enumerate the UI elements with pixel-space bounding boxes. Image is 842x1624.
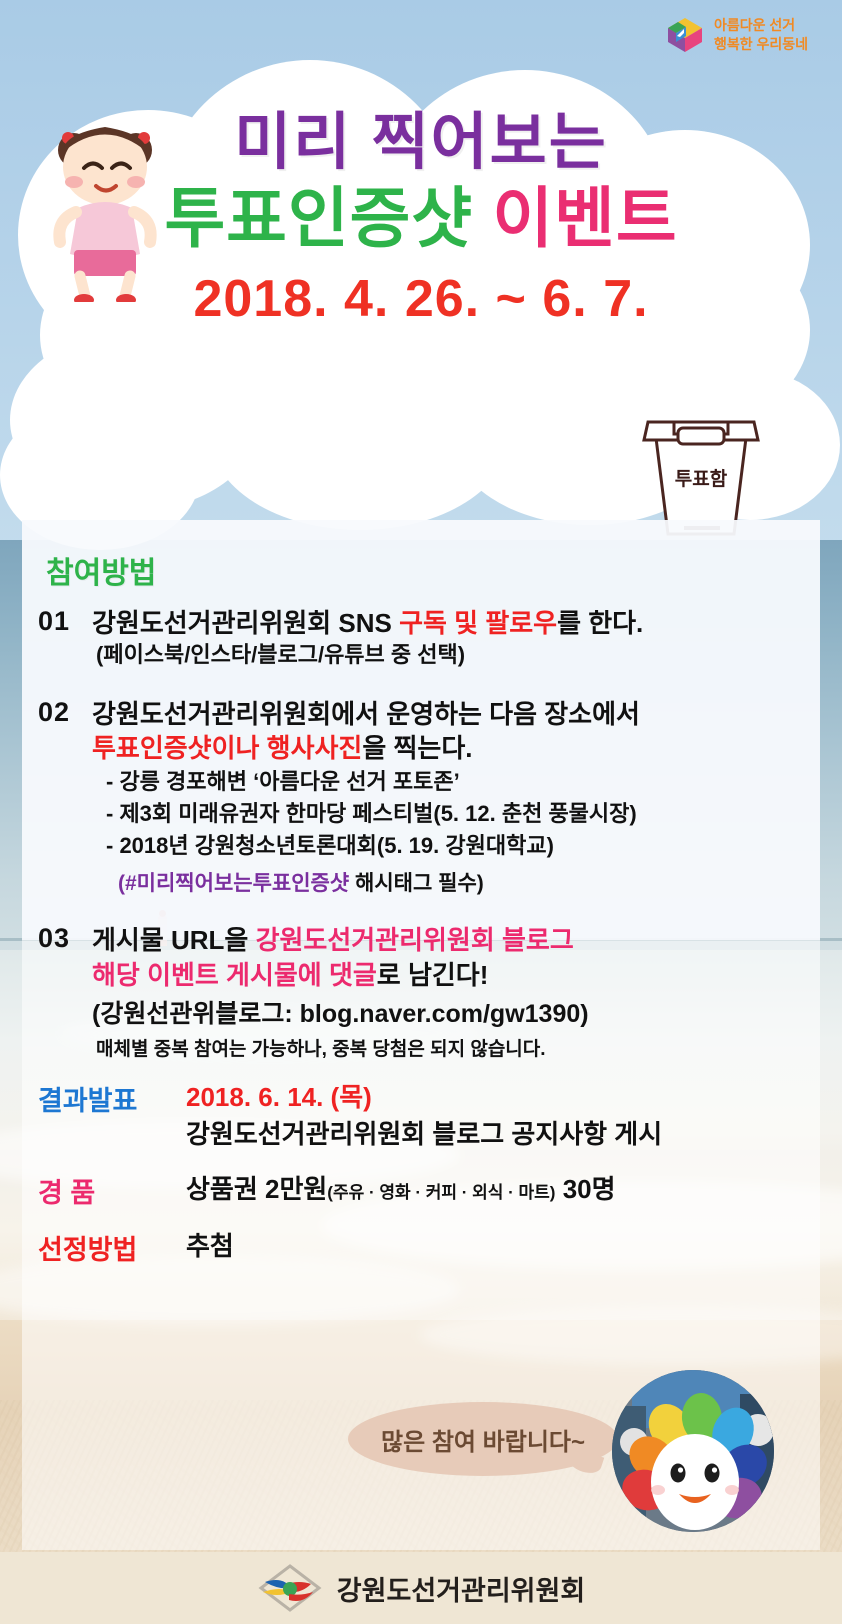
hashtag-text: (#미리찍어보는투표인증샷 <box>118 872 349 895</box>
title-green-text: 투표인증샷 <box>164 181 473 255</box>
step-02-number: 02 <box>38 697 92 728</box>
step-02-hashtag-note: (#미리찍어보는투표인증샷 해시태그 필수) <box>118 867 828 897</box>
title-line-2: 투표인증샷 이벤트 <box>0 181 842 257</box>
step-01-sub: (페이스북/인스타/블로그/유튜브 중 선택) <box>96 640 828 671</box>
prize-count: 30명 <box>563 1174 616 1204</box>
step-02-bullet: - 강릉 경포해변 ‘아름다운 선거 포토존’ <box>106 766 828 798</box>
step-02-text: 을 찍는다. <box>362 733 472 763</box>
blog-url-line[interactable]: (강원선관위블로그: blog.naver.com/gw1390) <box>92 994 828 1030</box>
nec-bird-logo-icon <box>257 1562 323 1614</box>
step-02-line-1: 강원도선거관리위원회에서 운영하는 다음 장소에서 <box>92 697 828 731</box>
step-02-bullet: - 2018년 강원청소년토론대회(5. 19. 강원대학교) <box>106 830 828 862</box>
info-label-result: 결과발표 <box>38 1079 186 1118</box>
title-line-1: 미리 찍어보는 <box>0 110 842 175</box>
info-row-prize: 경 품 상품권 2만원(주유 · 영화 · 커피 · 외식 · 마트) 30명 <box>38 1171 828 1210</box>
step-03-text-a: 게시물 URL을 <box>92 925 256 955</box>
brand-line-1: 아름다운 선거 <box>714 16 808 35</box>
step-03-highlight-b: 해당 이벤트 게시물에 댓글 <box>92 960 377 990</box>
participation-heading: 참여방법 <box>46 548 828 592</box>
event-date-range: 2018. 4. 26. ~ 6. 7. <box>0 269 842 329</box>
mascot-illustration-icon <box>612 1370 774 1532</box>
info-value-result: 2018. 6. 14. (목) 강원도선거관리위원회 블로그 공지사항 게시 <box>186 1079 662 1153</box>
step-03-line-1: 게시물 URL을 강원도선거관리위원회 블로그 <box>92 923 828 957</box>
hashtag-suffix: 해시태그 필수) <box>349 872 484 895</box>
info-row-result-announcement: 결과발표 2018. 6. 14. (목) 강원도선거관리위원회 블로그 공지사… <box>38 1079 828 1153</box>
ballot-box-illustration: 투표함 <box>626 408 776 538</box>
result-date: 2018. 6. 14. (목) <box>186 1079 662 1116</box>
info-value-prize: 상품권 2만원(주유 · 영화 · 커피 · 외식 · 마트) 30명 <box>186 1171 616 1208</box>
footer-organization-name: 강원도선거관리위원회 <box>337 1569 585 1608</box>
step-01-text-a: 강원도선거관리위원회 SNS <box>92 608 399 638</box>
step-01-highlight: 구독 및 팔로우 <box>399 608 557 638</box>
step-03-number: 03 <box>38 923 92 954</box>
prize-categories: (주유 · 영화 · 커피 · 외식 · 마트) <box>327 1183 555 1202</box>
speech-bubble: 많은 참여 바랍니다~ <box>348 1402 618 1476</box>
step-01-text-b: 를 한다. <box>557 608 643 638</box>
poster-root: 아름다운 선거 행복한 우리동네 <box>0 0 842 1624</box>
step-02-highlight: 투표인증샷이나 행사사진 <box>92 733 362 763</box>
step-03-highlight-a: 강원도선거관리위원회 블로그 <box>256 925 574 955</box>
poster-title: 미리 찍어보는 투표인증샷 이벤트 2018. 4. 26. ~ 6. 7. <box>0 110 842 329</box>
step-02-bullet: - 제3회 미래유권자 한마당 페스티벌(5. 12. 춘천 풍물시장) <box>106 798 828 830</box>
duplicate-entry-note: 매체별 중복 참여는 가능하나, 중복 당첨은 되지 않습니다. <box>96 1034 828 1061</box>
step-01-line: 강원도선거관리위원회 SNS 구독 및 팔로우를 한다. <box>92 606 828 640</box>
title-pink-text: 이벤트 <box>492 181 677 255</box>
info-label-selection: 선정방법 <box>38 1228 186 1267</box>
nec-character-photo-icon <box>612 1370 774 1532</box>
footer-bar: 강원도선거관리위원회 <box>0 1552 842 1624</box>
step-03: 03 게시물 URL을 강원도선거관리위원회 블로그 해당 이벤트 게시물에 댓… <box>38 923 828 1061</box>
info-value-selection: 추첨 <box>186 1228 234 1265</box>
step-03-text-b: 로 남긴다! <box>377 960 489 990</box>
step-02: 02 강원도선거관리위원회에서 운영하는 다음 장소에서 투표인증샷이나 행사사… <box>38 697 828 897</box>
info-row-selection-method: 선정방법 추첨 <box>38 1228 828 1267</box>
ballot-box-label: 투표함 <box>626 464 776 491</box>
prize-main: 상품권 2만원 <box>186 1174 327 1204</box>
step-02-line-2: 투표인증샷이나 행사사진을 찍는다. <box>92 731 828 765</box>
content-body: 참여방법 01 강원도선거관리위원회 SNS 구독 및 팔로우를 한다. (페이… <box>38 540 828 1267</box>
info-label-prize: 경 품 <box>38 1171 186 1210</box>
step-03-line-2: 해당 이벤트 게시물에 댓글로 남긴다! <box>92 958 828 992</box>
step-01: 01 강원도선거관리위원회 SNS 구독 및 팔로우를 한다. (페이스북/인스… <box>38 606 828 671</box>
result-location: 강원도선거관리위원회 블로그 공지사항 게시 <box>186 1116 662 1153</box>
step-01-number: 01 <box>38 606 92 637</box>
speech-bubble-text: 많은 참여 바랍니다~ <box>381 1422 585 1457</box>
